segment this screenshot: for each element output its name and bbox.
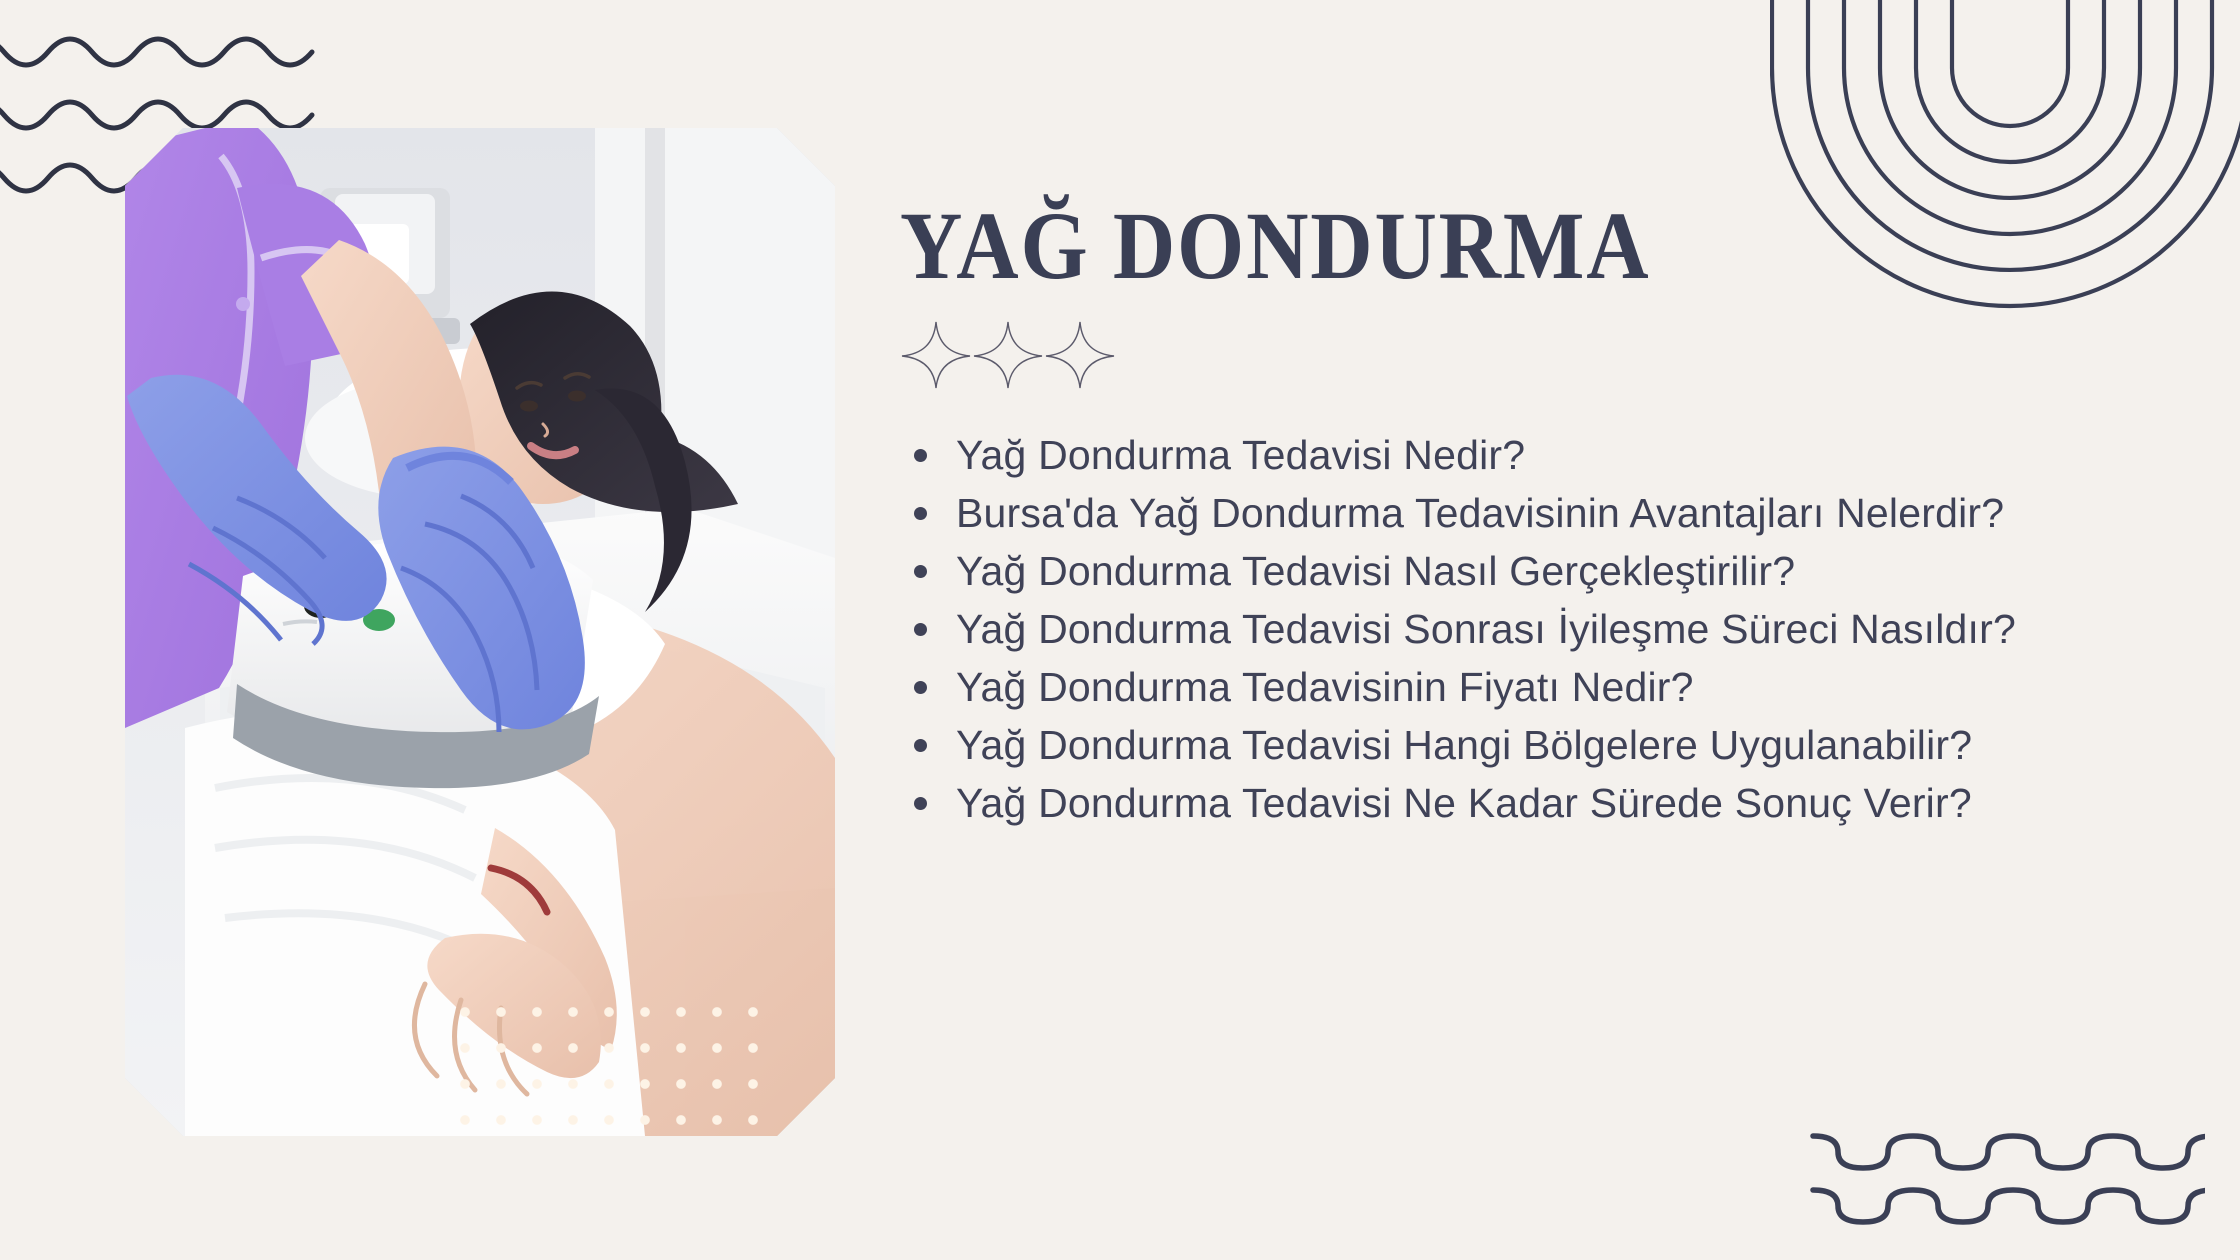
list-item[interactable]: Yağ Dondurma Tedavisi Nedir? [900, 428, 2080, 483]
list-item[interactable]: Yağ Dondurma Tedavisi Sonrası İyileşme S… [900, 602, 2080, 657]
list-item[interactable]: Bursa'da Yağ Dondurma Tedavisinin Avanta… [900, 486, 2080, 541]
slide-canvas: YAĞ DONDURMA Yağ Dondurma Tedavisi Nedir… [0, 0, 2240, 1260]
list-item[interactable]: Yağ Dondurma Tedavisi Hangi Bölgelere Uy… [900, 718, 2080, 773]
list-item-label: Yağ Dondurma Tedavisinin Fiyatı Nedir? [956, 664, 1694, 710]
dot-grid-overlay [443, 990, 783, 1136]
list-item-label: Yağ Dondurma Tedavisi Hangi Bölgelere Uy… [956, 722, 1972, 768]
list-item-label: Yağ Dondurma Tedavisi Nasıl Gerçekleştir… [956, 548, 1795, 594]
list-item[interactable]: Yağ Dondurma Tedavisi Nasıl Gerçekleştir… [900, 544, 2080, 599]
question-list: Yağ Dondurma Tedavisi Nedir? Bursa'da Ya… [900, 428, 2080, 834]
list-item-label: Yağ Dondurma Tedavisi Ne Kadar Sürede So… [956, 780, 1972, 826]
photo-illustration [125, 128, 835, 1136]
list-item-label: Bursa'da Yağ Dondurma Tedavisinin Avanta… [956, 490, 2004, 536]
list-item-label: Yağ Dondurma Tedavisi Sonrası İyileşme S… [956, 606, 2016, 652]
sparkle-stars-icon [898, 318, 1118, 392]
content-column: YAĞ DONDURMA Yağ Dondurma Tedavisi Nedir… [898, 0, 2188, 1260]
list-item[interactable]: Yağ Dondurma Tedavisi Ne Kadar Sürede So… [900, 776, 2080, 831]
treatment-photo [125, 128, 835, 1136]
list-item-label: Yağ Dondurma Tedavisi Nedir? [956, 432, 1525, 478]
list-item[interactable]: Yağ Dondurma Tedavisinin Fiyatı Nedir? [900, 660, 2080, 715]
page-title: YAĞ DONDURMA [900, 198, 1650, 294]
